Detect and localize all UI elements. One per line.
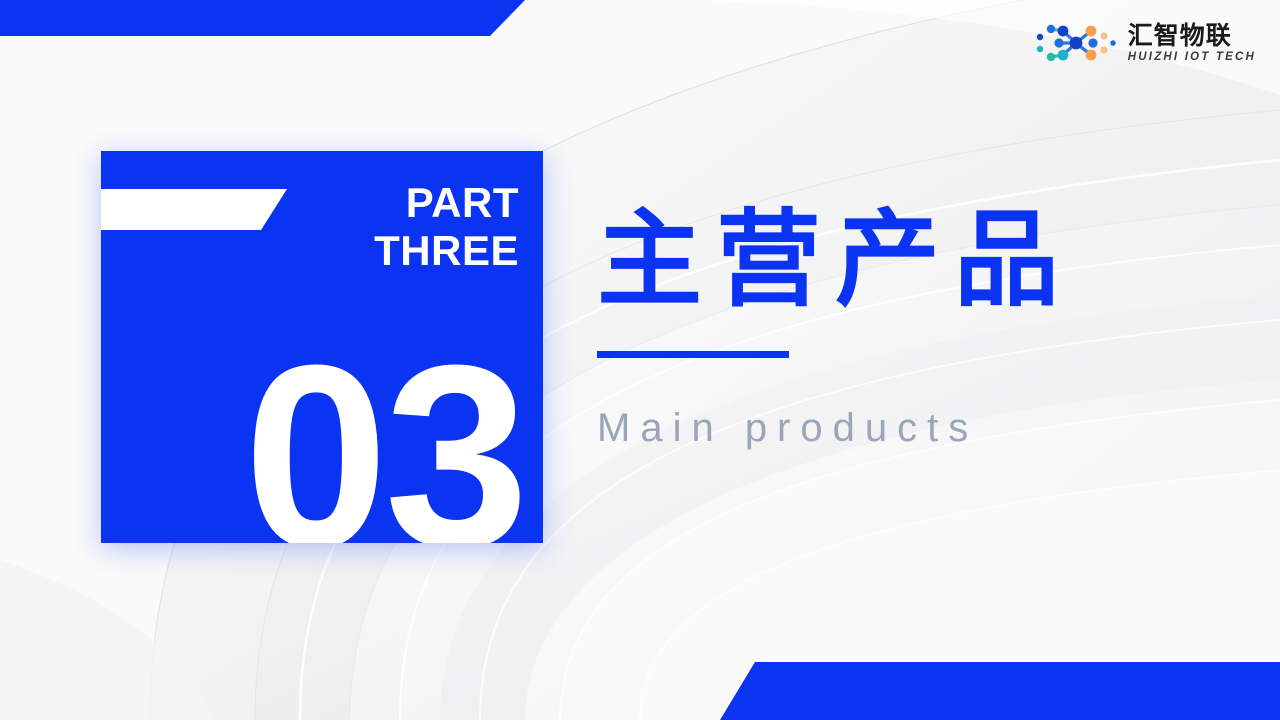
logo-text-group: 汇智物联 HUIZHI IOT TECH	[1128, 23, 1256, 64]
logo-company-name-cn: 汇智物联	[1128, 23, 1256, 48]
part-label-line2: THREE	[199, 227, 519, 275]
subtitle: Main products	[597, 406, 1073, 451]
bottom-right-blue-banner	[720, 662, 1280, 720]
logo-company-name-en: HUIZHI IOT TECH	[1128, 52, 1256, 64]
part-number: 03	[101, 327, 525, 543]
top-left-blue-banner	[0, 0, 525, 36]
molecule-network-icon	[1033, 22, 1119, 64]
part-number-card: PART THREE 03	[101, 151, 543, 543]
main-title: 主营产品	[597, 205, 1073, 315]
title-underline-rule	[597, 351, 789, 358]
title-block: 主营产品 Main products	[597, 205, 1073, 451]
part-label-line1: PART	[406, 179, 519, 226]
slide-root: 汇智物联 HUIZHI IOT TECH PART THREE 03 主营产品 …	[0, 0, 1280, 720]
part-label: PART THREE	[199, 179, 519, 275]
company-logo: 汇智物联 HUIZHI IOT TECH	[1033, 22, 1256, 64]
